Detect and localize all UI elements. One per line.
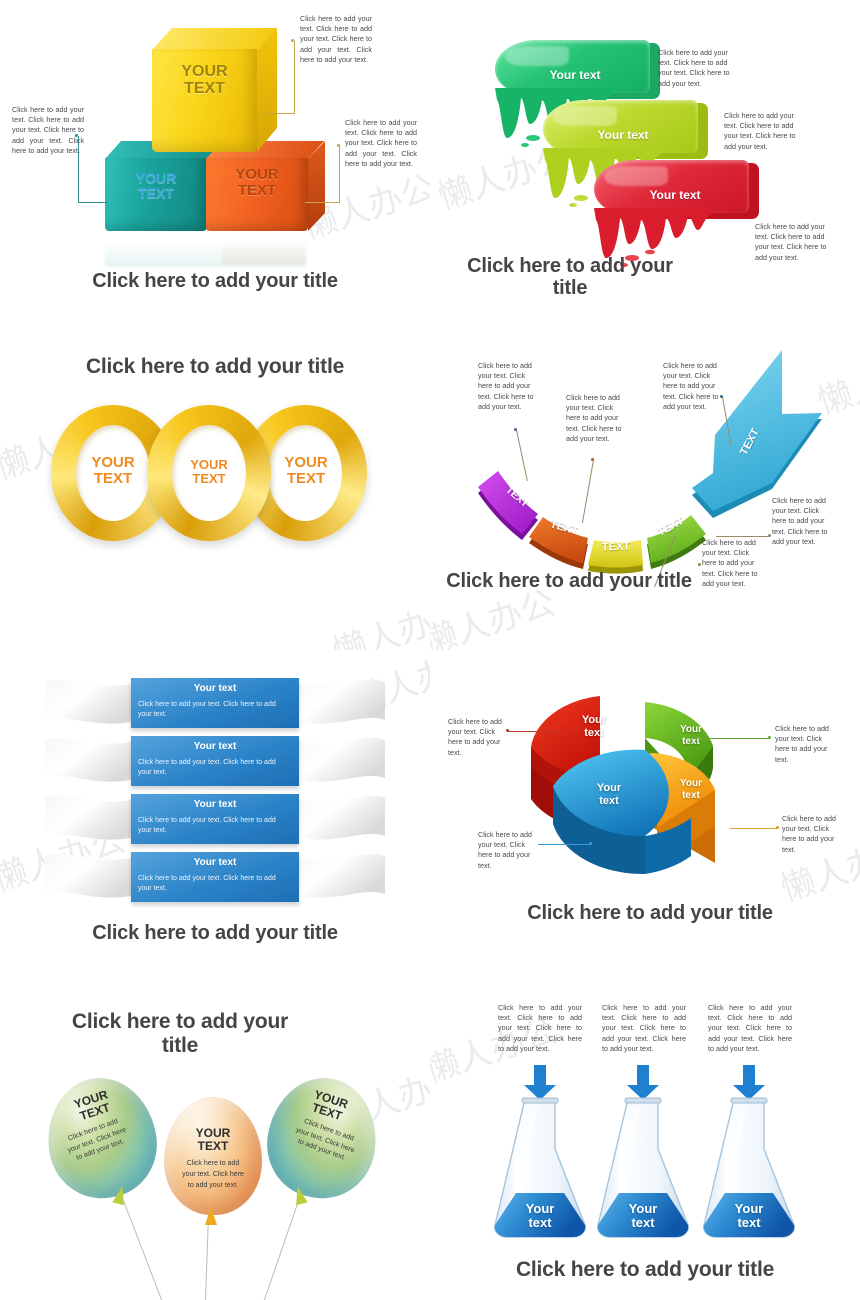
flask-2-label-line1: Your	[629, 1201, 658, 1216]
slide-gold-rings[interactable]: 懒人办公 懒人办公 Click here to add your title Y…	[0, 325, 430, 650]
watermark-2: 懒人办公	[326, 585, 430, 650]
pie-note-orange: Click here to add your text. Click here …	[782, 814, 844, 855]
arrow-pointer-dot-1	[514, 428, 517, 431]
down-arrow-icon-3	[732, 1065, 766, 1101]
curved-arrow-title[interactable]: Click here to add your title	[444, 570, 694, 592]
ring-2-label-line2: TEXT	[192, 471, 225, 486]
ring-3-label-line2: TEXT	[287, 470, 325, 487]
arrow-pointer-5	[716, 536, 770, 537]
cube-yellow-top	[152, 28, 277, 50]
ribbon-3-label: Your text	[131, 799, 299, 810]
pie-leader-dot-blue	[589, 842, 592, 845]
pie-leader-dot-green	[768, 736, 771, 739]
pie-leader-green	[695, 738, 770, 739]
pie-leader-red	[508, 731, 565, 732]
ribbon-2-tail-right	[293, 736, 385, 788]
down-arrow-icon-1	[523, 1065, 557, 1101]
cube-teal-label-line1: YOUR	[136, 170, 176, 186]
balloon-2-label: YOUR TEXT	[176, 1127, 250, 1154]
ribbons-title[interactable]: Click here to add your title	[0, 922, 430, 944]
ribbon-1-note: Click here to add your text. Click here …	[138, 700, 288, 720]
cube-orange-label: YOUR TEXT	[206, 167, 308, 199]
balloon-2[interactable]	[164, 1097, 262, 1215]
ring-1-label-line2: TEXT	[94, 470, 132, 487]
cube-note-left: Click here to add your text. Click here …	[12, 105, 84, 156]
gold-rings-title[interactable]: Click here to add your title	[0, 355, 430, 379]
cube-note-right: Click here to add your text. Click here …	[345, 118, 417, 169]
balloons-title[interactable]: Click here to add your title	[55, 1010, 305, 1057]
pie-3d-graphic[interactable]	[505, 678, 805, 908]
ribbon-1-tail-right	[293, 678, 385, 730]
balloon-2-knot	[203, 1207, 219, 1227]
pie-label-blue-line2: text	[599, 795, 619, 807]
balloon-string-1	[122, 1198, 166, 1300]
paint-drips-title[interactable]: Click here to add your title	[450, 255, 690, 300]
arrow-note-4: Click here to add your text. Click here …	[702, 538, 762, 589]
arrow-pointer-dot-2	[591, 458, 594, 461]
balloon-string-2	[204, 1215, 209, 1300]
pie-leader-dot-orange	[776, 826, 779, 829]
pie-note-red: Click here to add your text. Click here …	[448, 717, 508, 758]
ribbon-2[interactable]: Your text Click here to add your text. C…	[45, 736, 385, 786]
pie-label-red-line1: Your	[582, 714, 606, 726]
ring-1-label-line1: YOUR	[91, 454, 134, 471]
ribbon-4-note: Click here to add your text. Click here …	[138, 874, 288, 894]
flask-1-label-line2: text	[528, 1215, 551, 1230]
cube-yellow[interactable]: YOUR TEXT	[152, 28, 277, 152]
ribbon-1-label: Your text	[131, 683, 299, 694]
cube-orange-label-line2: TEXT	[238, 182, 276, 199]
cube-yellow-label-line1: YOUR	[181, 63, 227, 80]
slide-pie-3d[interactable]: 懒人办公	[430, 650, 860, 975]
ribbon-3-tail-left	[45, 794, 137, 846]
flask-note-3: Click here to add your text. Click here …	[708, 1003, 792, 1054]
paint-note-green: Click here to add your text. Click here …	[658, 48, 740, 89]
ribbon-2-note: Click here to add your text. Click here …	[138, 758, 288, 778]
cube-leader-right-v	[339, 146, 340, 203]
slide-flasks[interactable]: 懒人办公 Click here to add your text. Click …	[430, 975, 860, 1300]
arrow-note-3: Click here to add your text. Click here …	[663, 361, 723, 412]
cube-orange[interactable]: YOUR TEXT	[206, 141, 324, 231]
flask-note-2: Click here to add your text. Click here …	[602, 1003, 686, 1054]
paint-label-green: Your text	[520, 68, 630, 82]
balloon-2-note: Click here to add your text. Click here …	[180, 1159, 246, 1192]
ribbon-2-label: Your text	[131, 741, 299, 752]
ribbon-3-note: Click here to add your text. Click here …	[138, 816, 288, 836]
ribbon-4-tail-left	[45, 852, 137, 904]
cube-leader-dot-top	[291, 39, 294, 42]
ring-3-label-line1: YOUR	[284, 454, 327, 471]
flask-1-label-line1: Your	[526, 1201, 555, 1216]
pie-label-blue-line1: Your	[597, 782, 621, 794]
ring-2-label: YOUR TEXT	[172, 458, 246, 485]
ribbon-4-tail-right	[293, 852, 385, 904]
flask-3-label-line2: text	[737, 1215, 760, 1230]
down-arrow-icon-2	[626, 1065, 660, 1101]
cube-note-top: Click here to add your text. Click here …	[300, 14, 372, 65]
cube-reflection-2	[222, 231, 307, 265]
flask-1-label: Your text	[502, 1202, 578, 1231]
flask-note-1: Click here to add your text. Click here …	[498, 1003, 582, 1054]
cubes-title[interactable]: Click here to add your title	[0, 270, 430, 292]
balloon-2-label-line2: TEXT	[198, 1139, 229, 1153]
paint-note-red: Click here to add your text. Click here …	[755, 222, 837, 263]
slide-ribbons[interactable]: 懒人办公 懒人办公 Your text Click here to add yo…	[0, 650, 430, 975]
arrow-note-5: Click here to add your text. Click here …	[772, 496, 832, 547]
ribbon-4-label: Your text	[131, 857, 299, 868]
ring-3-label: YOUR TEXT	[262, 455, 350, 487]
pie-leader-orange	[730, 828, 778, 829]
flasks-title[interactable]: Click here to add your title	[430, 1258, 860, 1282]
balloon-2-label-line1: YOUR	[196, 1126, 231, 1140]
slide-cubes[interactable]: 懒人办公 YOUR TEXT YOUR TEXT	[0, 0, 430, 325]
paint-label-lime: Your text	[568, 128, 678, 142]
pie-label-red-line2: text	[584, 727, 604, 739]
cube-yellow-label-line2: TEXT	[184, 80, 225, 97]
pie-label-blue: Your text	[572, 782, 646, 807]
ribbon-1[interactable]: Your text Click here to add your text. C…	[45, 678, 385, 728]
paint-label-red: Your text	[620, 188, 730, 202]
flask-3-label-line1: Your	[735, 1201, 764, 1216]
pie-label-green-line1: Your	[680, 724, 702, 735]
pie-label-orange-line1: Your	[680, 778, 702, 789]
cube-teal-label-line2: TEXT	[138, 185, 174, 201]
pie-label-orange-line2: text	[682, 790, 700, 801]
pie-label-orange: Your text	[658, 778, 724, 801]
flask-3-label: Your text	[711, 1202, 787, 1231]
arrow-note-2: Click here to add your text. Click here …	[566, 393, 626, 444]
cube-leader-left	[78, 202, 108, 203]
slide-paint-drips[interactable]: 懒人办公 Your text Click here to add your te…	[430, 0, 860, 325]
pie-note-blue: Click here to add your text. Click here …	[478, 830, 538, 871]
flask-2-label: Your text	[605, 1202, 681, 1231]
arrow-note-1: Click here to add your text. Click here …	[478, 361, 538, 412]
ring-1-label: YOUR TEXT	[68, 455, 158, 487]
cube-yellow-label: YOUR TEXT	[152, 64, 257, 98]
cube-leader-dot-right	[337, 144, 340, 147]
slide-deck-contact-sheet: 懒人办公 YOUR TEXT YOUR TEXT	[0, 0, 860, 1300]
cube-orange-label-line1: YOUR	[235, 166, 278, 183]
balloon-1-knot	[110, 1184, 130, 1207]
pie-leader-blue	[538, 844, 591, 845]
cube-leader-top-v	[294, 41, 295, 114]
pie-3d-title[interactable]: Click here to add your title	[515, 902, 785, 924]
balloon-string-3	[260, 1198, 300, 1300]
slide-balloons[interactable]: 懒人办公 Click here to add your title YOUR T…	[0, 975, 430, 1300]
pie-label-red: Your text	[556, 714, 632, 739]
arrow-pointer-dot-5	[768, 534, 771, 537]
ribbon-4[interactable]: Your text Click here to add your text. C…	[45, 852, 385, 902]
arrow-pointer-dot-4	[698, 563, 701, 566]
ribbon-1-tail-left	[45, 678, 137, 730]
paint-note-lime: Click here to add your text. Click here …	[724, 111, 806, 152]
pie-label-green: Your text	[658, 724, 724, 747]
ribbon-2-tail-left	[45, 736, 137, 788]
ribbon-3[interactable]: Your text Click here to add your text. C…	[45, 794, 385, 844]
cube-leader-top	[262, 113, 295, 114]
chevron-label-3: TEXT	[589, 537, 644, 557]
slide-curved-arrow[interactable]: 懒人办公 懒人办公	[430, 325, 860, 650]
cube-teal-label: YOUR TEXT	[105, 171, 207, 200]
cube-leader-right	[305, 202, 340, 203]
flask-2-label-line2: text	[631, 1215, 654, 1230]
pie-note-green: Click here to add your text. Click here …	[775, 724, 837, 765]
ribbon-3-tail-right	[293, 794, 385, 846]
